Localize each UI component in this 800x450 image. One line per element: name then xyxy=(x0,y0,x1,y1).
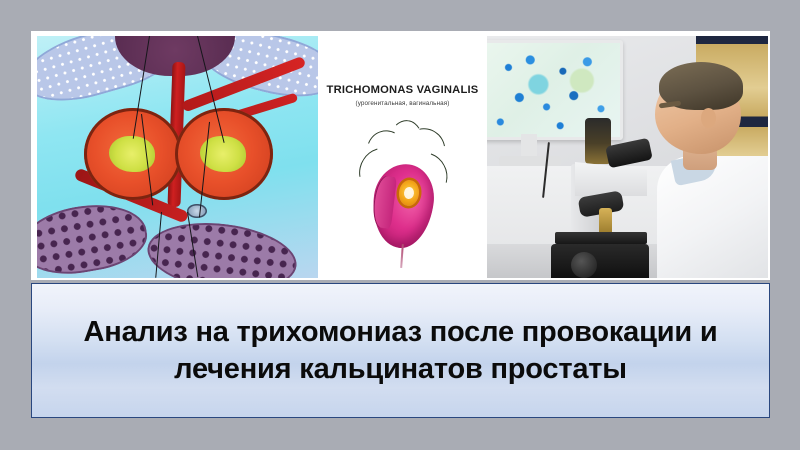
monitor-base-shape xyxy=(499,156,561,166)
microscope-focus-knob xyxy=(571,252,597,278)
photo-strip: TRICHOMONAS VAGINALIS (урогенитальная, в… xyxy=(37,36,768,278)
pelvic-bone-bottom-right-shape xyxy=(144,215,301,278)
prostate-lobe-right-shape xyxy=(175,108,273,200)
laboratory-microscope-photo xyxy=(487,36,768,278)
microscope-eyepiece-shape xyxy=(605,138,653,169)
trichomonas-subtitle: (урогенитальная, вагинальная) xyxy=(318,100,487,107)
slide: TRICHOMONAS VAGINALIS (урогенитальная, в… xyxy=(0,0,800,450)
slide-title: Анализ на трихомониаз после провокации и… xyxy=(51,314,751,387)
prostate-anatomy-illustration xyxy=(37,36,318,278)
pelvic-bone-bottom-left-shape xyxy=(37,196,152,278)
trichomonas-vaginalis-card: TRICHOMONAS VAGINALIS (урогенитальная, в… xyxy=(318,36,487,278)
title-box: Анализ на трихомониаз после провокации и… xyxy=(31,283,770,418)
trichomonas-title: TRICHOMONAS VAGINALIS xyxy=(318,84,487,96)
microscope-stage-shape xyxy=(555,232,647,244)
lymph-node-shape xyxy=(187,204,207,218)
trichomonas-diagram xyxy=(343,120,463,270)
ear-shape xyxy=(701,108,716,128)
microscope-base-shape xyxy=(551,244,649,278)
prostate-lobe-left-shape xyxy=(84,108,182,200)
